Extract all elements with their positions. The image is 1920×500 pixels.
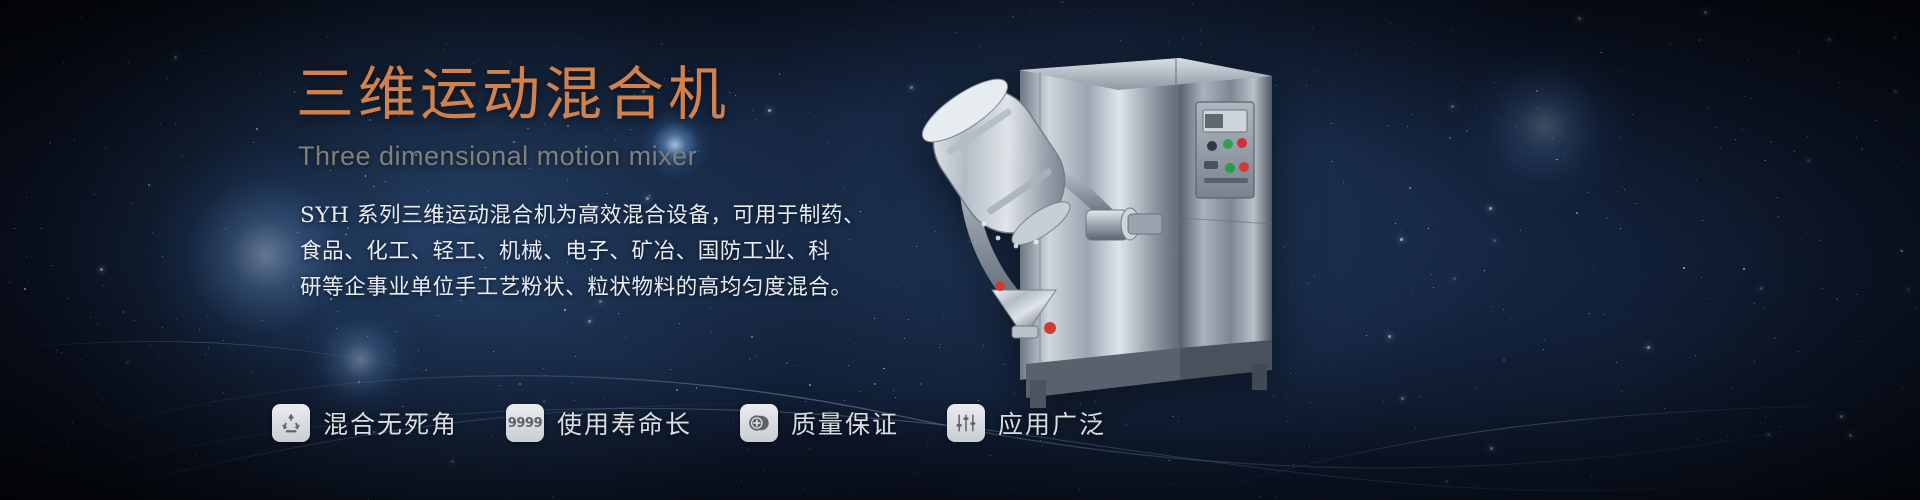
lifespan-9999-icon: 9999 (506, 404, 544, 442)
description-paragraph: SYH 系列三维运动混合机为高效混合设备，可用于制药、 食品、化工、轻工、机械、… (300, 198, 916, 306)
feature-item-mixing[interactable]: 混合无死角 (272, 404, 458, 442)
feature-label: 使用寿命长 (557, 405, 692, 441)
product-image (880, 28, 1300, 418)
page-title: 三维运动混合机 (296, 62, 916, 127)
banner-copy: 三维运动混合机 Three dimensional motion mixer S… (296, 62, 916, 306)
feature-item-quality[interactable]: 质量保证 (740, 404, 899, 442)
feature-label: 应用广泛 (998, 405, 1106, 441)
sliders-icon (947, 404, 985, 442)
description-line: 研等企事业单位手工艺粉状、粒状物料的高均匀度混合。 (300, 270, 916, 306)
quality-coin-icon (740, 404, 778, 442)
lifespan-badge-number: 9999 (508, 416, 543, 431)
feature-item-lifespan[interactable]: 9999 使用寿命长 (506, 404, 692, 442)
feature-label: 质量保证 (791, 405, 899, 441)
description-line: SYH 系列三维运动混合机为高效混合设备，可用于制药、 (300, 198, 916, 234)
hero-banner: 三维运动混合机 Three dimensional motion mixer S… (0, 0, 1920, 500)
feature-list: 混合无死角 9999 使用寿命长 质量保证 (272, 404, 1106, 442)
page-subtitle: Three dimensional motion mixer (298, 141, 916, 172)
recycle-icon (272, 404, 310, 442)
feature-label: 混合无死角 (323, 405, 458, 441)
description-line: 食品、化工、轻工、机械、电子、矿冶、国防工业、科 (300, 234, 916, 270)
feature-item-application[interactable]: 应用广泛 (947, 404, 1106, 442)
